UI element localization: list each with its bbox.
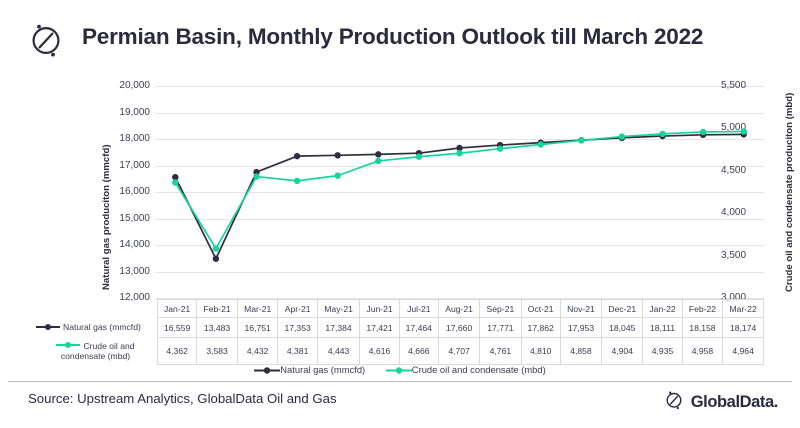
y-tick-left: 19,000 — [106, 107, 150, 118]
table-cell: 4,443 — [317, 338, 360, 365]
y-tick-left: 18,000 — [106, 133, 150, 144]
table-cell: 17,953 — [560, 318, 601, 338]
table-col-header: Jul-21 — [399, 300, 438, 318]
table-col-header: Mar-22 — [723, 300, 764, 318]
data-point — [375, 151, 381, 157]
table-cell: 4,432 — [237, 338, 278, 365]
y-tick-left: 14,000 — [106, 239, 150, 250]
table-cell: 4,958 — [682, 338, 723, 365]
table-swatch-1 — [56, 341, 80, 351]
y-tick-left: 15,000 — [106, 213, 150, 224]
data-point — [416, 154, 422, 160]
table-cell: 18,158 — [682, 318, 723, 338]
data-point — [456, 150, 462, 156]
globaldata-logo-icon — [24, 18, 68, 62]
series-lines — [155, 86, 764, 298]
data-point — [619, 133, 625, 139]
legend-swatch-crude-oil — [386, 364, 412, 375]
table-col-header: Feb-21 — [197, 300, 238, 318]
table-cell: 4,761 — [480, 338, 521, 365]
chart-legend: Natural gas (mmcfd) Crude oil and conden… — [0, 364, 800, 375]
table-cell: 4,858 — [560, 338, 601, 365]
table-row: Crude oil and condensate (mbd)4,3623,583… — [34, 338, 764, 365]
legend-label-crude-oil: Crude oil and condensate (mbd) — [412, 364, 546, 375]
table-cell: 18,111 — [643, 318, 682, 338]
y-tick-left: 17,000 — [106, 160, 150, 171]
table-row-label: Crude oil and condensate (mbd) — [34, 338, 158, 365]
table-cell: 18,174 — [723, 318, 764, 338]
table-cell: 16,751 — [237, 318, 278, 338]
table-row: Natural gas (mmcfd)16,55913,48316,75117,… — [34, 318, 764, 338]
table-cell: 4,666 — [399, 338, 438, 365]
data-point — [213, 256, 219, 262]
legend-label-natural-gas: Natural gas (mmcfd) — [280, 364, 365, 375]
table-cell: 17,660 — [438, 318, 479, 338]
table-cell: 17,353 — [278, 318, 317, 338]
legend-item-natural-gas[interactable]: Natural gas (mmcfd) — [254, 364, 365, 375]
table-col-header: Jan-22 — [643, 300, 682, 318]
table-col-header: Nov-21 — [560, 300, 601, 318]
table-cell: 13,483 — [197, 318, 238, 338]
y-tick-left: 13,000 — [106, 266, 150, 277]
table-row-label: Natural gas (mmcfd) — [34, 318, 158, 338]
table-col-header: Oct-21 — [521, 300, 560, 318]
table-cell: 16,559 — [158, 318, 197, 338]
globaldata-brand-text: GlobalData. — [691, 393, 778, 412]
data-point — [294, 153, 300, 159]
data-point — [335, 172, 341, 178]
table-row-label-text: Natural gas (mmcfd) — [63, 322, 141, 332]
footer-divider — [8, 381, 792, 382]
table-col-header: Mar-21 — [237, 300, 278, 318]
table-col-header: May-21 — [317, 300, 360, 318]
y-tick-left: 16,000 — [106, 186, 150, 197]
table-cell: 4,362 — [158, 338, 197, 365]
globaldata-brand-logo-icon — [662, 388, 686, 417]
data-point — [741, 128, 747, 134]
table-cell: 3,583 — [197, 338, 238, 365]
table-col-header: Dec-21 — [602, 300, 643, 318]
table-col-header: Apr-21 — [278, 300, 317, 318]
table-cell: 4,935 — [643, 338, 682, 365]
table-cell: 4,616 — [360, 338, 399, 365]
table-col-header: Sep-21 — [480, 300, 521, 318]
table-cell: 4,810 — [521, 338, 560, 365]
source-note: Source: Upstream Analytics, GlobalData O… — [28, 391, 337, 406]
data-point — [253, 173, 259, 179]
page-title: Permian Basin, Monthly Production Outloo… — [82, 24, 703, 50]
table-cell: 17,421 — [360, 318, 399, 338]
chart-page: Permian Basin, Monthly Production Outloo… — [0, 0, 800, 428]
table-cell: 4,904 — [602, 338, 643, 365]
y-axis-title-right: Crude oil and condensate produciton (mbd… — [784, 93, 795, 292]
table-col-header: Jan-21 — [158, 300, 197, 318]
table-cell: 17,384 — [317, 318, 360, 338]
table-header-row: Jan-21Feb-21Mar-21Apr-21May-21Jun-21Jul-… — [34, 300, 764, 318]
y-tick-left: 20,000 — [106, 80, 150, 91]
data-point — [335, 152, 341, 158]
data-point — [497, 145, 503, 151]
table-cell: 4,381 — [278, 338, 317, 365]
data-point — [213, 245, 219, 251]
table-cell: 18,045 — [602, 318, 643, 338]
table-cell: 4,707 — [438, 338, 479, 365]
globaldata-brand: GlobalData. — [662, 389, 778, 415]
data-point — [375, 158, 381, 164]
table-cell: 4,964 — [723, 338, 764, 365]
data-point — [538, 141, 544, 147]
table-cell: 17,771 — [480, 318, 521, 338]
data-point — [700, 129, 706, 135]
data-point — [294, 178, 300, 184]
legend-swatch-natural-gas — [254, 364, 280, 375]
table-corner-cell — [34, 300, 158, 318]
table-col-header: Jun-21 — [360, 300, 399, 318]
table-cell: 17,862 — [521, 318, 560, 338]
table-col-header: Feb-22 — [682, 300, 723, 318]
data-table: Jan-21Feb-21Mar-21Apr-21May-21Jun-21Jul-… — [34, 299, 764, 365]
chart-header: Permian Basin, Monthly Production Outloo… — [0, 0, 800, 76]
legend-item-crude-oil[interactable]: Crude oil and condensate (mbd) — [386, 364, 546, 375]
data-point — [659, 131, 665, 137]
table-cell: 17,464 — [399, 318, 438, 338]
table-col-header: Aug-21 — [438, 300, 479, 318]
table-swatch-0 — [36, 323, 60, 333]
data-point — [578, 137, 584, 143]
data-point — [172, 179, 178, 185]
